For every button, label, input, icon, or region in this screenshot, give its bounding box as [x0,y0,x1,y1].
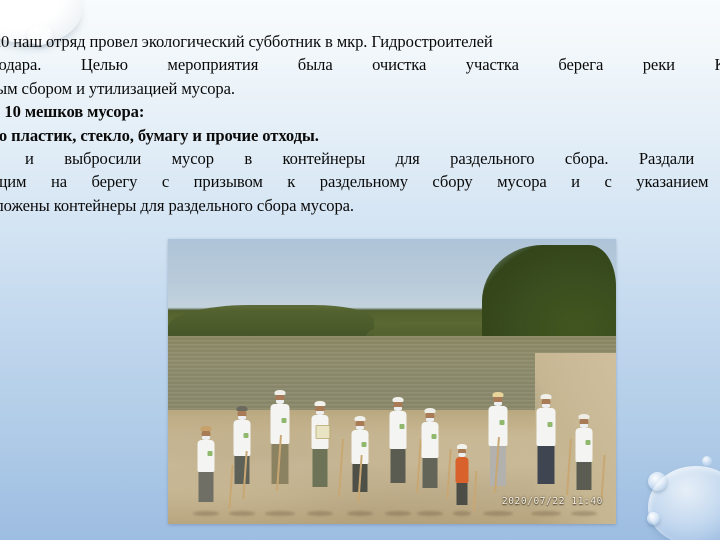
bubble-icon [648,472,667,491]
body-line: 07.2020 наш отряд провел экологический с… [0,30,720,53]
group-of-volunteers [168,239,616,524]
bubble-icon [702,456,712,466]
body-line: брали 10 мешков мусора: [0,100,720,123]
slide-body-text: 07.2020 наш отряд провел экологический с… [0,30,720,217]
body-line: дельно пластик, стекло, бумагу и прочие … [0,124,720,147]
water-droplet-icon [648,466,720,540]
photo-timestamp: 2020/07/22 11:40 [502,496,603,507]
body-line: ыхающим на берегу с призывом к раздельно… [0,170,720,193]
body-line: везли и выбросили мусор в контейнеры для… [0,147,720,170]
presentation-slide: 07.2020 наш отряд провел экологический с… [0,0,720,540]
body-line: дельным сбором и утилизацией мусора. [0,77,720,100]
slide-photo: 2020/07/22 11:40 [168,239,616,524]
photo-scene [168,239,616,524]
body-line: расположены контейнеры для раздельного с… [0,194,720,217]
body-line: Краснодара. Целью мероприятия была очист… [0,53,720,76]
bubble-icon [647,512,660,525]
